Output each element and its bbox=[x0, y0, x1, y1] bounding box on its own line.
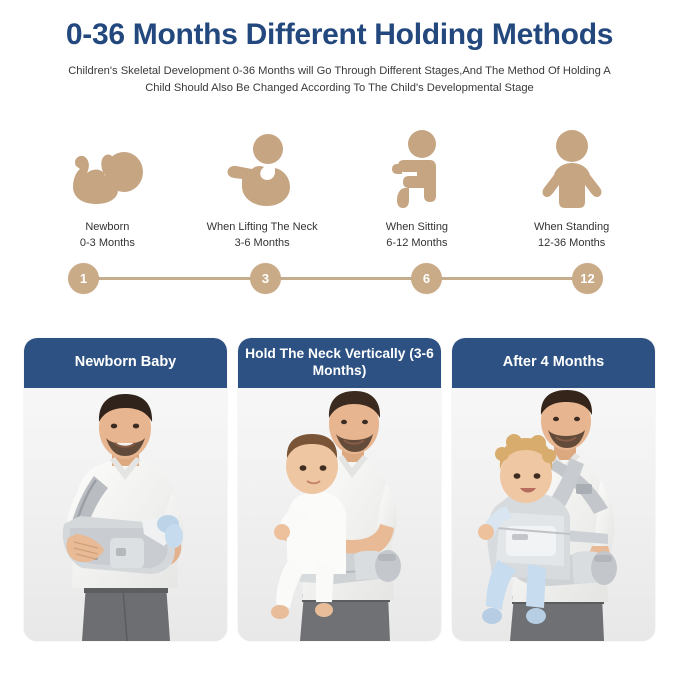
card-title-newborn-baby: Newborn Baby bbox=[24, 338, 227, 388]
page-header: 0-36 Months Different Holding Methods Ch… bbox=[0, 0, 679, 97]
card-photo-after-4-months bbox=[452, 388, 655, 641]
stage-label-lifting-neck: When Lifting The Neck 3-6 Months bbox=[207, 220, 318, 252]
timeline-node-1: 1 bbox=[68, 263, 99, 294]
card-title-hold-neck-vertically: Hold The Neck Vertically (3-6 Months) bbox=[238, 338, 441, 388]
card-after-4-months[interactable]: After 4 Months bbox=[452, 338, 655, 641]
baby-lifting-neck-icon bbox=[222, 132, 302, 210]
stage-age: 3-6 Months bbox=[207, 236, 318, 252]
baby-lying-icon bbox=[62, 132, 152, 210]
stage-standing: When Standing 12-36 Months bbox=[494, 132, 649, 252]
stage-label-newborn: Newborn 0-3 Months bbox=[80, 220, 135, 252]
page-subtitle: Children's Skeletal Development 0-36 Mon… bbox=[57, 63, 623, 98]
holding-method-cards: Newborn Baby bbox=[24, 338, 655, 641]
stage-lifting-neck: When Lifting The Neck 3-6 Months bbox=[185, 132, 340, 252]
stage-age: 0-3 Months bbox=[80, 236, 135, 252]
timeline-node-6: 6 bbox=[411, 263, 442, 294]
stage-label-sitting: When Sitting 6-12 Months bbox=[386, 220, 448, 252]
card-photo-newborn-baby bbox=[24, 388, 227, 641]
card-photo-hold-neck-vertically bbox=[238, 388, 441, 641]
age-timeline: 1 3 6 12 bbox=[68, 263, 603, 295]
stage-name: When Sitting bbox=[386, 221, 448, 233]
stage-name: When Lifting The Neck bbox=[207, 221, 318, 233]
stage-label-standing: When Standing 12-36 Months bbox=[534, 220, 609, 252]
development-stages-row: Newborn 0-3 Months When Lifting The Neck… bbox=[30, 132, 649, 252]
stage-newborn: Newborn 0-3 Months bbox=[30, 132, 185, 252]
stage-age: 6-12 Months bbox=[386, 236, 448, 252]
card-newborn-baby[interactable]: Newborn Baby bbox=[24, 338, 227, 641]
baby-standing-icon bbox=[537, 132, 607, 210]
card-title-after-4-months: After 4 Months bbox=[452, 338, 655, 388]
infographic-page: 0-36 Months Different Holding Methods Ch… bbox=[0, 0, 679, 679]
timeline-rail bbox=[86, 277, 585, 280]
timeline-node-12: 12 bbox=[572, 263, 603, 294]
stage-age: 12-36 Months bbox=[534, 236, 609, 252]
stage-name: Newborn bbox=[85, 221, 129, 233]
timeline-node-3: 3 bbox=[250, 263, 281, 294]
card-hold-neck-vertically[interactable]: Hold The Neck Vertically (3-6 Months) bbox=[238, 338, 441, 641]
stage-sitting: When Sitting 6-12 Months bbox=[340, 132, 495, 252]
page-title: 0-36 Months Different Holding Methods bbox=[0, 18, 679, 53]
baby-sitting-icon bbox=[384, 132, 450, 210]
stage-name: When Standing bbox=[534, 221, 609, 233]
